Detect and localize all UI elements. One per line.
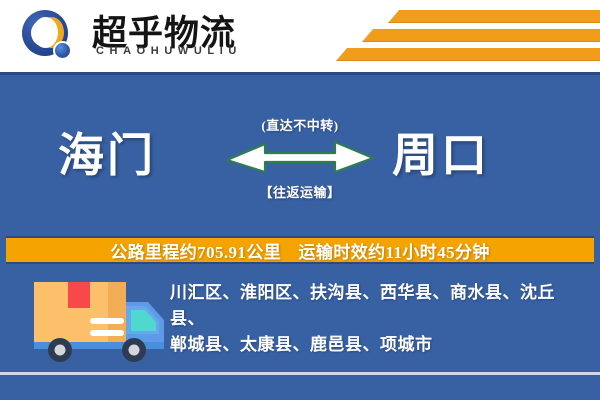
delivery-truck-icon [30,276,170,364]
brand-name-en: CHAOHUWULIU [96,45,242,57]
logo-accent-dot [53,41,72,60]
stripe-middle [362,29,600,42]
destination-city: 周口 [392,119,490,185]
info-bar-container: 公路里程约705.91公里 运输时效约11小时45分钟 [0,232,600,268]
orange-speed-stripes-icon [320,8,600,66]
header: 超乎物流 CHAOHUWULIU [0,0,600,72]
stripe-top [388,10,600,23]
logo-crescent-cutout [33,17,58,48]
distance-duration-text: 公路里程约705.91公里 运输时效约11小时45分钟 [110,238,490,263]
double-headed-arrow-icon [225,138,375,176]
coverage-regions: 川汇区、淮阳区、扶沟县、西华县、商水县、沈丘县、 郸城县、太康县、鹿邑县、项城市 [170,280,582,358]
roundtrip-note-label: 【往返运输】 [216,182,384,201]
footer-strip [0,375,600,400]
logistics-route-banner: 超乎物流 CHAOHUWULIU 海门 (直达不中转) 【往返运输】 周口 公路… [0,0,600,400]
coverage-regions-line-1: 川汇区、淮阳区、扶沟县、西华县、商水县、沈丘县、 [170,280,582,332]
circle-crescent-logo-icon [22,10,78,62]
info-bar: 公路里程约705.91公里 运输时效约11小时45分钟 [6,236,594,264]
direct-note-label: (直达不中转) [216,115,384,134]
origin-city: 海门 [58,119,156,185]
route-arrow-block: (直达不中转) 【往返运输】 [216,113,384,223]
stripe-bottom [336,48,600,61]
coverage-section: 川汇区、淮阳区、扶沟县、西华县、商水县、沈丘县、 郸城县、太康县、鹿邑县、项城市 [0,268,600,372]
route-panel: 海门 (直达不中转) 【往返运输】 周口 [0,72,600,235]
coverage-regions-line-2: 郸城县、太康县、鹿邑县、项城市 [170,332,582,358]
